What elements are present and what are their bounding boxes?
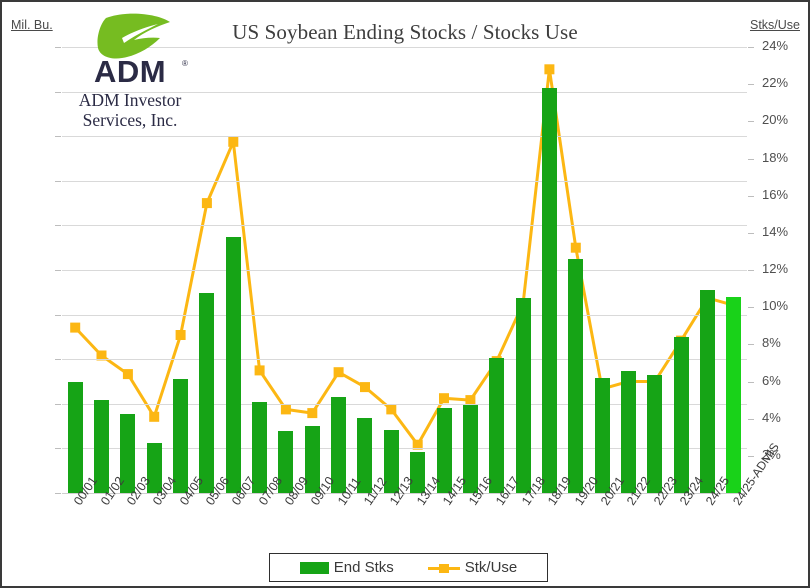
legend-label-end-stks: End Stks: [334, 559, 394, 576]
y2-axis-label-12: 12%: [762, 261, 788, 276]
y2-axis-label-22: 22%: [762, 75, 788, 90]
adm-logo-icon: ADM ®: [66, 12, 194, 90]
stk-use-marker-02/03[interactable]: [123, 369, 133, 379]
y-tick-100: [55, 448, 61, 449]
bar-22/23[interactable]: [647, 375, 662, 493]
bar-16/17[interactable]: [489, 358, 504, 493]
y2-axis-label-8: 8%: [762, 335, 781, 350]
bar-24/25[interactable]: [700, 290, 715, 493]
gridline-left-500: [62, 270, 747, 271]
stk-use-marker-14/15[interactable]: [439, 393, 449, 403]
stk-use-marker-07/08[interactable]: [255, 365, 265, 375]
y2-axis-label-14: 14%: [762, 224, 788, 239]
stk-use-marker-19/20[interactable]: [571, 243, 581, 253]
gridline-left-400: [62, 315, 747, 316]
chart-legend: End Stks Stk/Use: [269, 553, 548, 582]
y2-tick-4: [748, 419, 754, 420]
y-tick-700: [55, 181, 61, 182]
stk-use-marker-09/10[interactable]: [307, 408, 317, 418]
gridline-left-300: [62, 359, 747, 360]
adm-caption-line2: Services, Inc.: [66, 111, 194, 131]
y2-axis-label-20: 20%: [762, 112, 788, 127]
y2-tick-16: [748, 196, 754, 197]
legend-item-end-stks[interactable]: End Stks: [300, 559, 394, 576]
y2-axis-label-4: 4%: [762, 410, 781, 425]
bar-18/19[interactable]: [542, 88, 557, 493]
y-tick-500: [55, 270, 61, 271]
svg-text:ADM: ADM: [94, 54, 166, 89]
gridline-left-600: [62, 225, 747, 226]
adm-caption-line1: ADM Investor: [66, 91, 194, 111]
bar-04/05[interactable]: [173, 379, 188, 493]
y2-tick-22: [748, 84, 754, 85]
y-tick-200: [55, 404, 61, 405]
stk-use-marker-10/11[interactable]: [334, 367, 344, 377]
y2-axis-label-18: 18%: [762, 150, 788, 165]
adm-logo: ADM ® ADM Investor Services, Inc.: [66, 12, 194, 130]
y-tick-400: [55, 315, 61, 316]
y2-tick-10: [748, 307, 754, 308]
y2-tick-8: [748, 344, 754, 345]
stk-use-marker-00/01[interactable]: [70, 323, 80, 333]
y-tick-600: [55, 225, 61, 226]
stk-use-marker-05/06[interactable]: [202, 198, 212, 208]
y-tick-900: [55, 92, 61, 93]
gridline-left-200: [62, 404, 747, 405]
gridline-left-700: [62, 181, 747, 182]
bar-05/06[interactable]: [199, 293, 214, 493]
y2-tick-14: [748, 233, 754, 234]
y2-axis-label-16: 16%: [762, 187, 788, 202]
stk-use-marker-11/12[interactable]: [360, 382, 370, 392]
y-tick-1000: [55, 47, 61, 48]
y2-tick-20: [748, 121, 754, 122]
y2-tick-12: [748, 270, 754, 271]
gridline-left-100: [62, 448, 747, 449]
legend-item-stk-use[interactable]: Stk/Use: [428, 559, 518, 576]
chart-container: Mil. Bu. Stks/Use US Soybean Ending Stoc…: [0, 0, 810, 588]
adm-logo-caption: ADM Investor Services, Inc.: [66, 91, 194, 130]
bar-20/21[interactable]: [595, 378, 610, 493]
y2-axis-label-24: 24%: [762, 38, 788, 53]
svg-text:®: ®: [182, 59, 188, 68]
y-tick-300: [55, 359, 61, 360]
bar-00/01[interactable]: [68, 382, 83, 493]
y2-tick-2: [748, 456, 754, 457]
stk-use-marker-04/05[interactable]: [176, 330, 186, 340]
y2-tick-18: [748, 159, 754, 160]
stk-use-marker-08/09[interactable]: [281, 404, 291, 414]
y2-tick-6: [748, 382, 754, 383]
y-tick-0: [55, 493, 61, 494]
bar-06/07[interactable]: [226, 237, 241, 493]
legend-label-stk-use: Stk/Use: [465, 559, 518, 576]
stk-use-marker-06/07[interactable]: [228, 137, 238, 147]
stk-use-marker-12/13[interactable]: [386, 404, 396, 414]
stk-use-marker-18/19[interactable]: [544, 64, 554, 74]
bar-24/25-ADMIS[interactable]: [726, 297, 741, 493]
stk-use-marker-03/04[interactable]: [149, 412, 159, 422]
y-tick-800: [55, 136, 61, 137]
bar-19/20[interactable]: [568, 259, 583, 493]
y2-tick-24: [748, 47, 754, 48]
legend-bar-swatch-icon: [300, 562, 329, 574]
legend-line-swatch-icon: [428, 562, 460, 574]
gridline-left-800: [62, 136, 747, 137]
bar-17/18[interactable]: [516, 298, 531, 493]
bar-21/22[interactable]: [621, 371, 636, 493]
y2-axis-label-10: 10%: [762, 298, 788, 313]
bar-23/24[interactable]: [674, 337, 689, 493]
y2-axis-label-6: 6%: [762, 373, 781, 388]
